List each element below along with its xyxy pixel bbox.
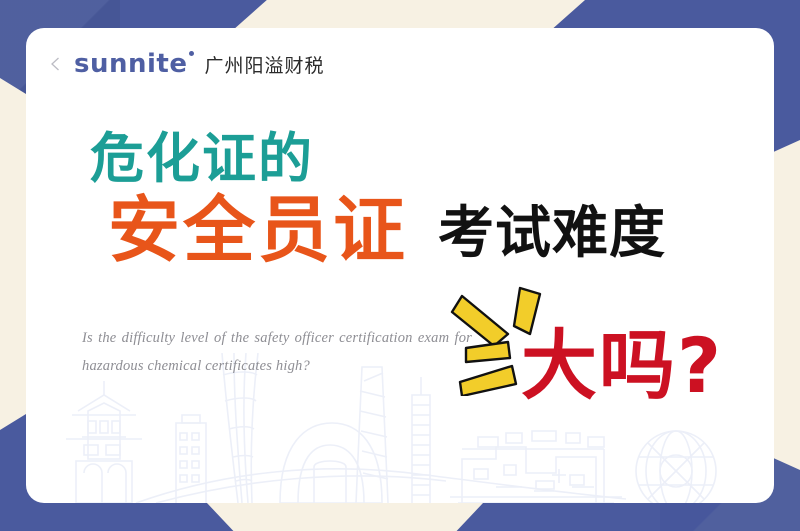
- brand-company-name: 广州阳溢财税: [204, 57, 324, 76]
- content-card: sunnite 广州阳溢财税 危化证的 安全员证 考试难度 大吗? Is the…: [26, 28, 774, 503]
- english-subtitle: Is the difficulty level of the safety of…: [82, 324, 472, 381]
- yellow-sparkle-burst-icon: [446, 276, 566, 396]
- headline-line-3: 考试难度: [438, 206, 666, 262]
- brand-logo[interactable]: sunnite 广州阳溢财税: [74, 51, 325, 77]
- brand-logo-text: sunnite: [74, 51, 187, 77]
- headline-line-2: 安全员证: [108, 194, 408, 266]
- headline-line-1: 危化证的: [90, 132, 314, 186]
- chevron-left-icon[interactable]: [48, 56, 64, 72]
- brand-dot-icon: [189, 51, 194, 56]
- header-bar: sunnite 广州阳溢财税: [26, 28, 774, 100]
